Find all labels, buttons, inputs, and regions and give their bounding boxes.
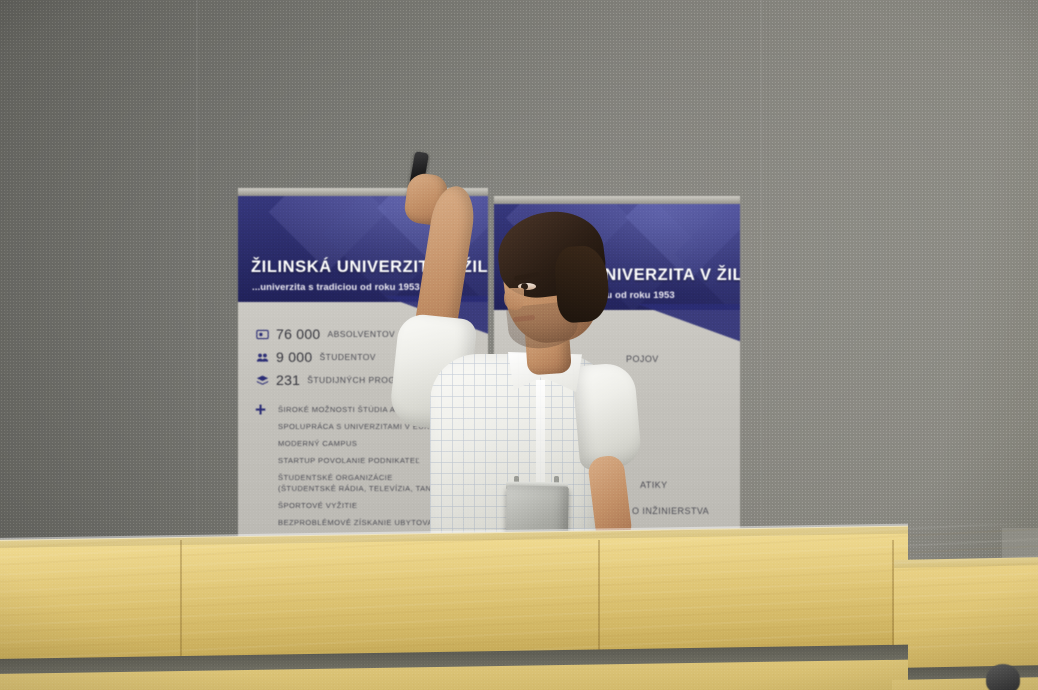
wood-grain: [0, 523, 1038, 665]
people-icon: [256, 351, 269, 364]
lecture-desk: [0, 528, 1038, 690]
layers-icon: [256, 374, 269, 387]
stat-students-label: ŠTUDENTOV: [319, 352, 375, 362]
foreground-object: [986, 664, 1020, 690]
presenter: [380, 168, 680, 558]
plus-icon: +: [255, 401, 266, 420]
photo-scene: ŽILINSKÁ UNIVERZITA V ŽILINE ...univerzi…: [0, 0, 1038, 690]
stat-programs-number: 231: [276, 372, 300, 388]
nose: [504, 288, 524, 310]
diploma-icon: [256, 328, 269, 341]
desk-seam-2: [598, 540, 600, 664]
stat-students: 9 000 ŠTUDENTOV: [256, 349, 376, 365]
stat-graduates: 76 000 ABSOLVENTOV: [256, 326, 395, 342]
stat-graduates-number: 76 000: [276, 326, 321, 342]
desk-seam-1: [180, 540, 182, 664]
stat-students-number: 9 000: [276, 349, 312, 365]
right-sleeve: [572, 361, 643, 470]
